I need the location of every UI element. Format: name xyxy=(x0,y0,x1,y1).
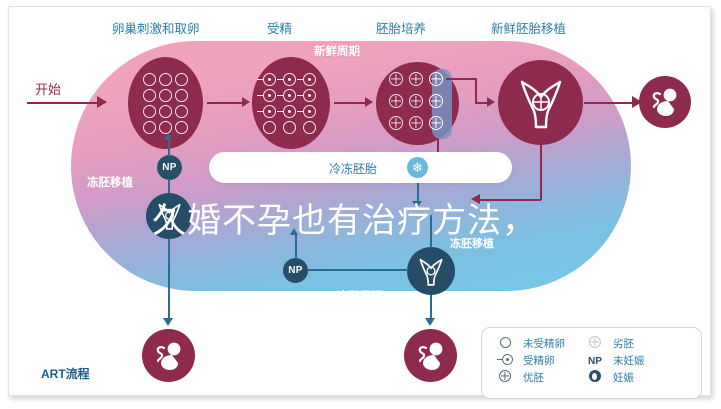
pregnancy-outcome-left[interactable] xyxy=(142,329,195,382)
np-badge-right[interactable]: NP xyxy=(283,258,308,283)
unfertilized-oocyte-icon xyxy=(159,89,172,102)
line-np-left-up xyxy=(168,139,170,156)
unfertilized-oocyte-icon xyxy=(263,121,276,134)
fertilized-oocyte-icon xyxy=(263,89,276,102)
fertilized-oocyte-icon xyxy=(303,73,316,86)
diagram-frame: 卵巢刺激和取卵 受精 胚胎培养 新鲜胚胎移植 新鲜周期 开始 xyxy=(8,6,711,396)
unfertilized-oocyte-icon xyxy=(159,105,172,118)
legend-label-pregnancy: 妊娠 xyxy=(609,369,649,386)
fertilized-oocyte-icon xyxy=(263,73,276,86)
legend-icon-good-embryo xyxy=(491,369,519,386)
unfertilized-oocyte-icon xyxy=(143,89,156,102)
thaw-cycle-label: 冻融周期 xyxy=(337,288,383,304)
line-left-uterus-to-baby xyxy=(168,239,170,321)
poor-embryo-icon xyxy=(589,336,601,348)
fertilized-oocyte-icon xyxy=(283,73,296,86)
unfertilized-oocyte-icon xyxy=(143,121,156,134)
snowflake-icon: ❄ xyxy=(407,157,428,178)
arrowhead-left-baby xyxy=(163,318,173,326)
uterus-icon xyxy=(417,257,445,286)
fertilization-node[interactable] xyxy=(252,57,330,149)
np-badge-left[interactable]: NP xyxy=(157,155,182,180)
unfertilized-oocyte-icon xyxy=(143,105,156,118)
unfertilized-oocyte-icon xyxy=(175,121,188,134)
np-icon: NP xyxy=(588,356,602,367)
fresh-cycle-label: 新鲜周期 xyxy=(314,43,360,59)
arrowhead-right-baby xyxy=(425,318,435,326)
legend-label-fertilized: 受精卵 xyxy=(519,352,569,369)
poor-embryo-icon xyxy=(389,116,403,130)
stage-label-fresh-transfer: 新鲜胚胎移植 xyxy=(491,18,566,37)
poor-embryo-icon xyxy=(409,116,423,130)
arrow-start xyxy=(27,102,99,104)
poor-embryo-icon xyxy=(389,94,403,108)
legend-row: 优胚 妊娠 xyxy=(491,369,649,386)
elbow-culture-out-h xyxy=(446,78,477,80)
legend-icon-pregnancy xyxy=(569,369,609,386)
unfertilized-oocyte-icon xyxy=(283,121,296,134)
arrowhead-1 xyxy=(242,97,250,107)
good-embryo-icon xyxy=(429,94,443,108)
unfertilized-oocyte-icon xyxy=(500,337,511,348)
legend-label-np: 未妊娠 xyxy=(609,352,649,369)
poor-embryo-icon xyxy=(389,72,403,86)
unfertilized-oocyte-icon xyxy=(175,73,188,86)
poor-embryo-icon xyxy=(409,72,423,86)
stage-label-culture: 胚胎培养 xyxy=(376,18,426,37)
art-flow-diagram: 卵巢刺激和取卵 受精 胚胎培养 新鲜胚胎移植 新鲜周期 开始 xyxy=(0,0,721,409)
poor-embryo-icon xyxy=(409,94,423,108)
unfertilized-oocyte-icon xyxy=(175,105,188,118)
frozen-transfer-label-left: 冻胚移植 xyxy=(87,174,133,190)
pregnancy-outcome-right[interactable] xyxy=(404,329,457,382)
legend-icon-poor-embryo xyxy=(569,335,609,352)
fertilized-oocyte-icon xyxy=(303,89,316,102)
fertilized-oocyte-icon xyxy=(283,89,296,102)
arrowhead-2 xyxy=(365,97,373,107)
embryo-culture-node[interactable] xyxy=(376,62,459,145)
fertilized-oocyte-icon xyxy=(283,105,296,118)
pregnancy-outcome-fresh[interactable] xyxy=(639,76,691,128)
arrow-fert-to-culture xyxy=(334,102,367,104)
fresh-embryo-transfer-node[interactable] xyxy=(498,60,583,145)
diagram-title-label: ART流程 xyxy=(41,365,90,382)
fetus-icon xyxy=(414,339,448,373)
frozen-embryo-bar[interactable]: 冷冻胚胎 ❄ xyxy=(209,152,512,183)
arrowhead-3 xyxy=(487,97,495,107)
good-embryo-icon xyxy=(429,116,443,130)
line-np-right-to-uterus xyxy=(308,269,408,271)
unfertilized-oocyte-icon xyxy=(159,73,172,86)
good-embryo-icon xyxy=(429,72,443,86)
legend-icon-unfertilized xyxy=(491,335,519,352)
fertilized-oocyte-icon xyxy=(303,105,316,118)
unfertilized-oocyte-icon xyxy=(303,121,316,134)
legend-label-unfertilized: 未受精卵 xyxy=(519,335,569,352)
fetus-icon xyxy=(648,85,682,119)
unfertilized-oocyte-icon xyxy=(159,121,172,134)
legend-table: 未受精卵 劣胚 受精卵 NP 未妊娠 优胚 妊娠 xyxy=(491,335,649,386)
fetus-icon xyxy=(152,339,186,373)
arrowhead-start xyxy=(97,96,107,108)
stage-label-fertilization: 受精 xyxy=(267,18,292,37)
unfertilized-oocyte-icon xyxy=(143,73,156,86)
frozen-transfer-uterus-right[interactable] xyxy=(407,247,455,295)
arrowhead-np-left xyxy=(164,133,172,140)
legend-icon-fertilized xyxy=(491,352,519,369)
pregnancy-icon xyxy=(589,370,601,382)
arrow-to-baby-fresh xyxy=(584,102,634,104)
watermark-text: 久婚不孕也有治疗方法， xyxy=(152,193,537,242)
legend-label-good-embryo: 优胚 xyxy=(519,369,569,386)
line-fresh-transfer-down xyxy=(540,145,542,200)
good-embryo-icon xyxy=(499,370,511,382)
legend-icon-np: NP xyxy=(569,352,609,369)
legend-box: 未受精卵 劣胚 受精卵 NP 未妊娠 优胚 妊娠 xyxy=(481,327,702,399)
elbow-culture-out-v xyxy=(475,78,477,103)
stage-label-retrieval: 卵巢刺激和取卵 xyxy=(112,18,200,37)
start-label: 开始 xyxy=(35,79,61,98)
legend-row: 未受精卵 劣胚 xyxy=(491,335,649,352)
legend-row: 受精卵 NP 未妊娠 xyxy=(491,352,649,369)
unfertilized-oocyte-icon xyxy=(175,89,188,102)
frozen-embryo-label: 冷冻胚胎 xyxy=(329,160,377,177)
uterus-icon xyxy=(516,77,566,129)
fertilized-oocyte-icon xyxy=(263,105,276,118)
arrow-retrieval-to-fert xyxy=(207,102,244,104)
fertilized-oocyte-icon xyxy=(497,354,513,365)
legend-label-poor-embryo: 劣胚 xyxy=(609,335,649,352)
